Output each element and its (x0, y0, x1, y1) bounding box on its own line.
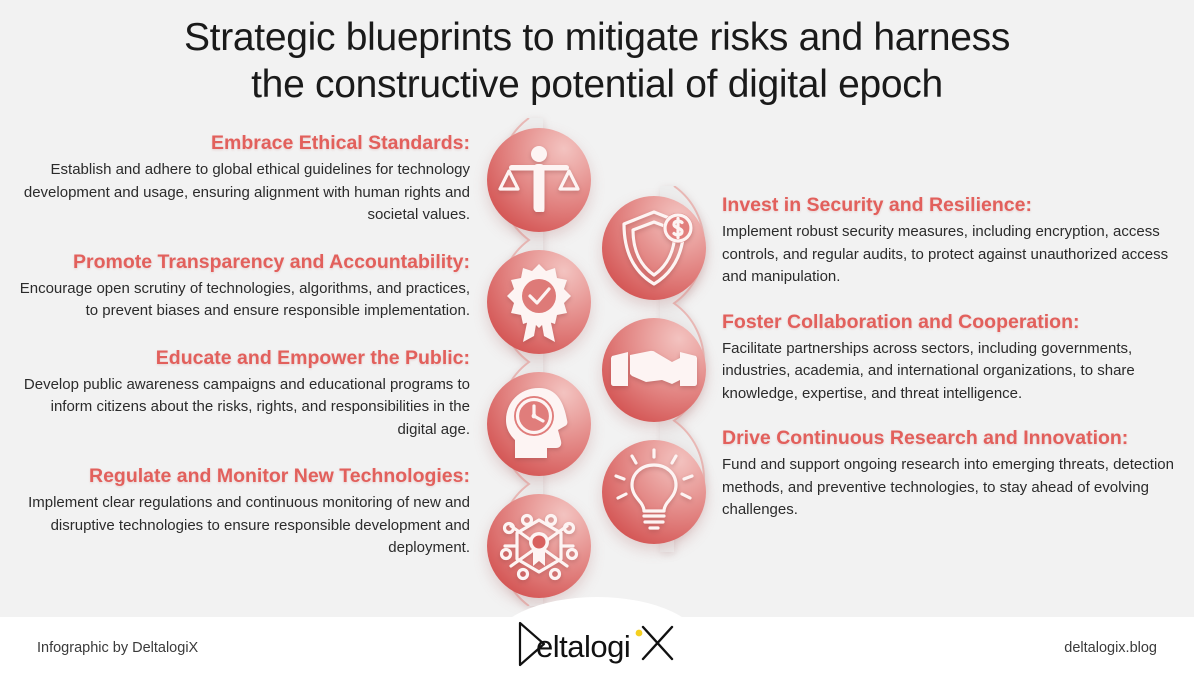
recommendation-heading: Drive Continuous Research and Innovation… (722, 425, 1178, 451)
footer-credit: Infographic by DeltalogiX (37, 640, 198, 656)
recommendation-heading: Promote Transparency and Accountability: (18, 249, 470, 275)
recommendation-heading: Invest in Security and Resilience: (722, 192, 1178, 218)
recommendation-body: Implement clear regulations and continuo… (18, 492, 470, 560)
icon-circle (487, 494, 591, 598)
recommendation-body: Encourage open scrutiny of technologies,… (18, 278, 470, 323)
recommendation-block: Drive Continuous Research and Innovation… (722, 425, 1178, 522)
recommendation-body: Implement robust security measures, incl… (722, 221, 1178, 289)
icon-award-ribbon (487, 250, 591, 354)
recommendation-block: Educate and Empower the Public: Develop … (18, 345, 470, 442)
icon-circle (487, 128, 591, 232)
deltalogix-logo-icon: eltalogi (510, 619, 684, 669)
brand-logo-badge: eltalogi (491, 597, 703, 683)
recommendation-block: Embrace Ethical Standards: Establish and… (18, 130, 470, 227)
recommendation-body: Establish and adhere to global ethical g… (18, 159, 470, 227)
left-text-column: Embrace Ethical Standards: Establish and… (18, 130, 470, 582)
icon-circle (602, 440, 706, 544)
recommendation-body: Facilitate partnerships across sectors, … (722, 338, 1178, 406)
recommendation-heading: Educate and Empower the Public: (18, 345, 470, 371)
right-text-column: Invest in Security and Resilience: Imple… (722, 192, 1178, 542)
award-ribbon-check-icon (487, 250, 591, 354)
icon-circle (487, 372, 591, 476)
head-with-clock-icon (487, 372, 591, 476)
recommendation-body: Develop public awareness campaigns and e… (18, 374, 470, 442)
icon-lightbulb (602, 440, 706, 544)
network-hexagon-badge-icon (487, 494, 591, 598)
left-icon-strip (465, 128, 597, 616)
title-line-2: the constructive potential of digital ep… (0, 61, 1194, 108)
icon-circle (602, 318, 706, 422)
shield-dollar-coin-icon (602, 196, 706, 300)
title-line-1: Strategic blueprints to mitigate risks a… (184, 16, 1010, 59)
recommendation-block: Foster Collaboration and Cooperation: Fa… (722, 309, 1178, 406)
recommendation-block: Invest in Security and Resilience: Imple… (722, 192, 1178, 289)
lightbulb-idea-icon (602, 440, 706, 544)
icon-handshake (602, 318, 706, 422)
page-title: Strategic blueprints to mitigate risks a… (0, 14, 1194, 108)
icon-circle (487, 250, 591, 354)
icon-shield-dollar (602, 196, 706, 300)
svg-text:eltalogi: eltalogi (536, 629, 630, 664)
icon-head-clock (487, 372, 591, 476)
recommendation-heading: Regulate and Monitor New Technologies: (18, 463, 470, 489)
justice-scales-figure-icon (487, 128, 591, 232)
recommendation-block: Regulate and Monitor New Technologies: I… (18, 463, 470, 560)
recommendation-body: Fund and support ongoing research into e… (722, 454, 1178, 522)
handshake-icon (602, 318, 706, 422)
recommendation-block: Promote Transparency and Accountability:… (18, 249, 470, 323)
recommendation-heading: Embrace Ethical Standards: (18, 130, 470, 156)
icon-justice-scales (487, 128, 591, 232)
footer-website[interactable]: deltalogix.blog (1064, 640, 1157, 656)
icon-network-hexagon (487, 494, 591, 598)
right-icon-strip (596, 196, 728, 562)
recommendation-heading: Foster Collaboration and Cooperation: (722, 309, 1178, 335)
icon-circle (602, 196, 706, 300)
